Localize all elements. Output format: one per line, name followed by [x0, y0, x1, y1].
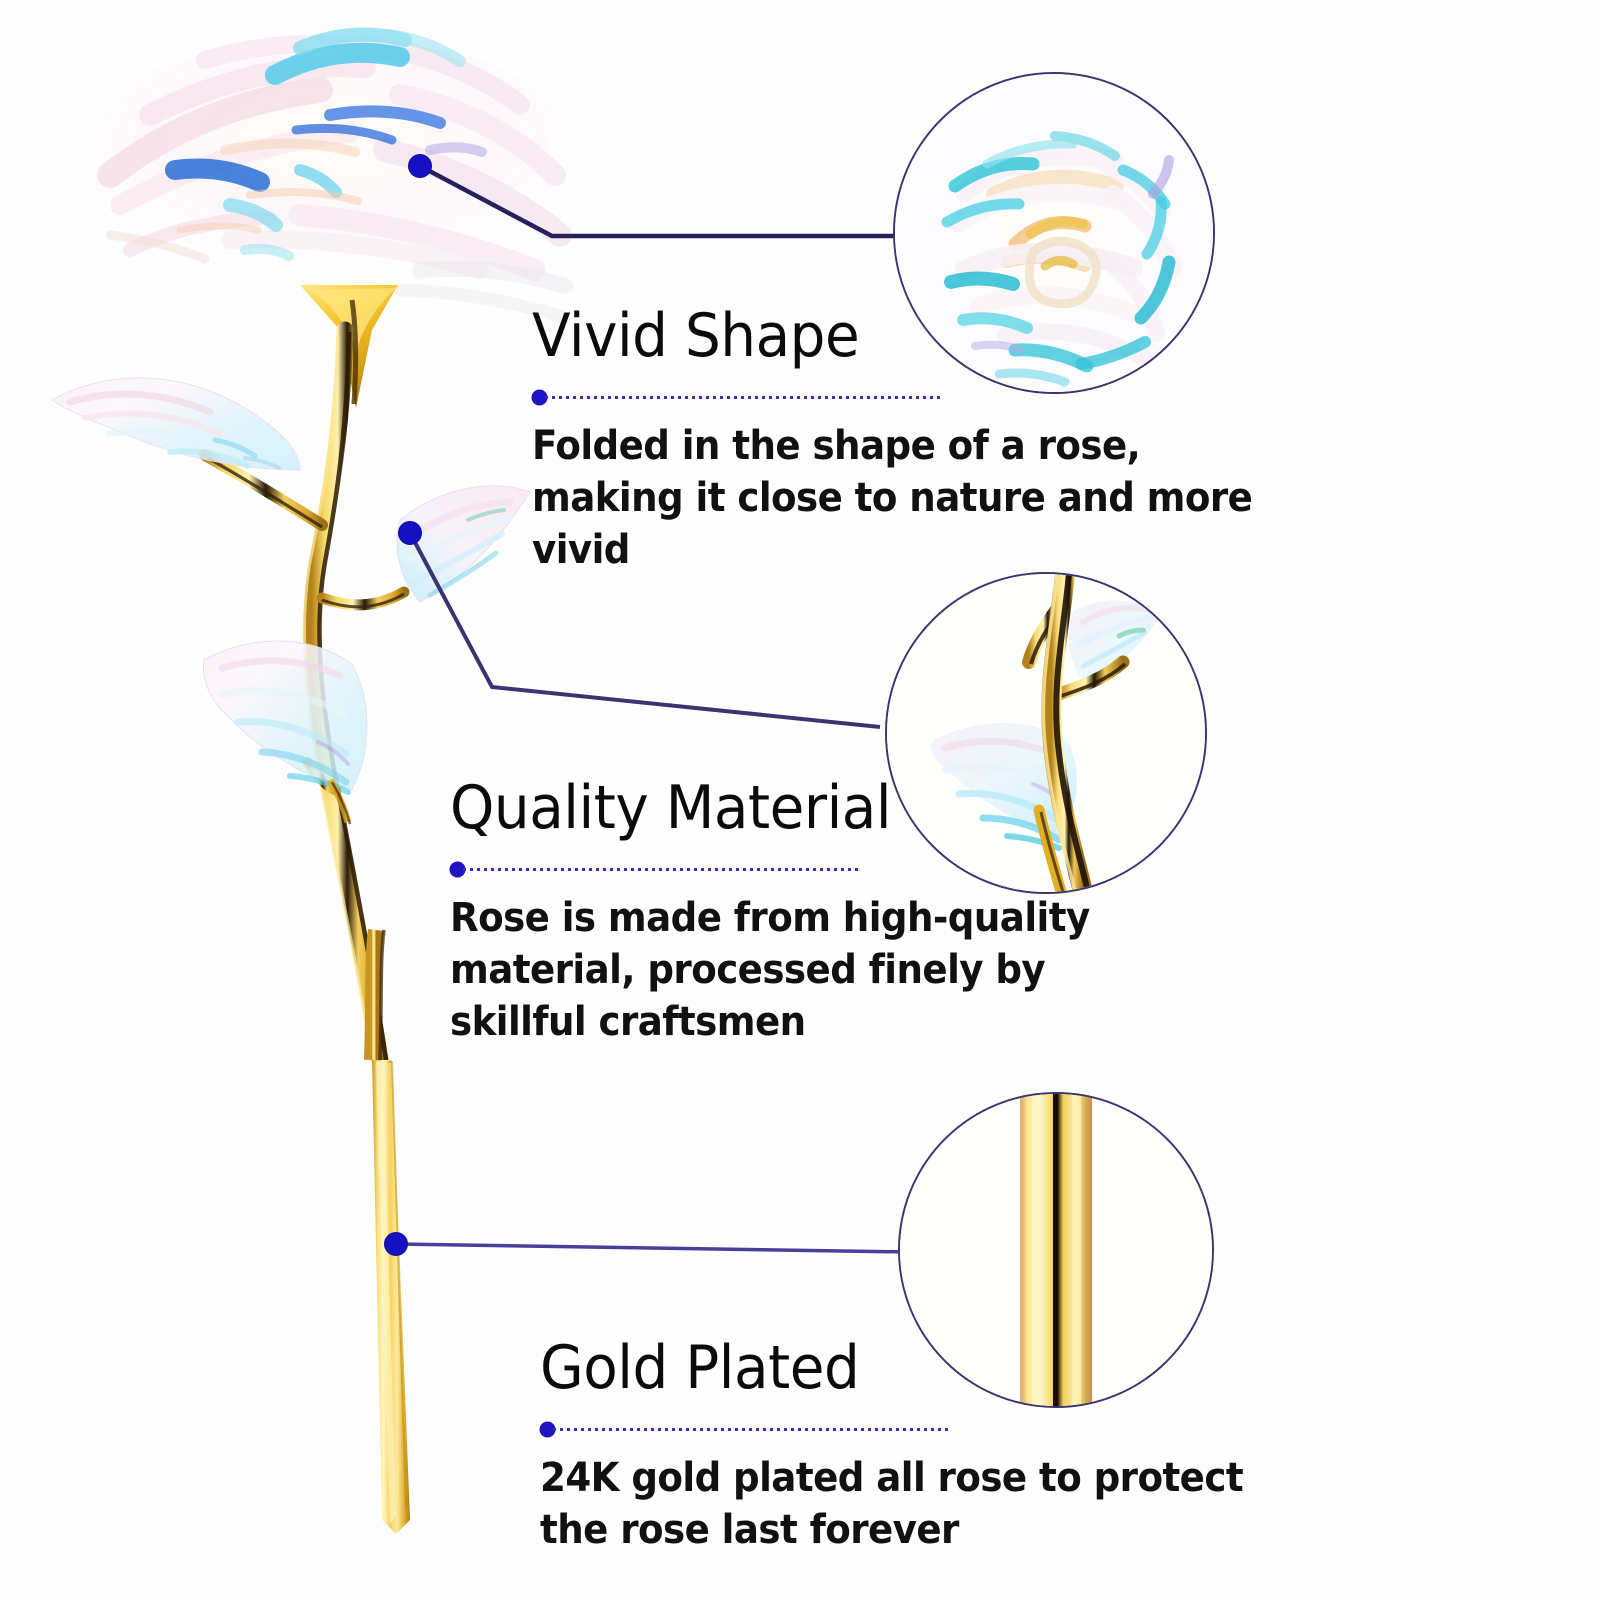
feature-heading-vivid-shape: Vivid Shape: [532, 306, 1275, 366]
infographic-canvas: Vivid Shape Folded in the shape of a ros…: [0, 0, 1600, 1600]
divider-dashes: [545, 396, 940, 399]
feature-divider-vivid-shape: [532, 388, 1322, 406]
feature-heading-gold-plated: Gold Plated: [540, 1338, 1283, 1398]
stem-branch-right: [322, 592, 404, 607]
feature-body-gold-plated: 24K gold plated all rose to protect the …: [540, 1452, 1275, 1556]
feature-heading-quality-material: Quality Material: [450, 778, 1193, 838]
feature-divider-quality-material: [450, 860, 1240, 878]
feature-body-vivid-shape: Folded in the shape of a rose, making it…: [532, 420, 1267, 576]
feature-block-quality-material: Quality Material Rose is made from high-…: [450, 778, 1240, 1048]
feature-block-vivid-shape: Vivid Shape Folded in the shape of a ros…: [532, 306, 1322, 576]
feature-body-quality-material: Rose is made from high-quality material,…: [450, 892, 1185, 1048]
leaf-right: [397, 486, 530, 602]
divider-dashes: [553, 1428, 948, 1431]
rose-bloom: [85, 35, 575, 316]
divider-dashes: [463, 868, 858, 871]
gold-stem-rod: [372, 930, 410, 1534]
feature-divider-gold-plated: [540, 1420, 1330, 1438]
leaf-upper-left: [52, 378, 300, 470]
leaf-lower-left: [204, 641, 367, 824]
feature-block-gold-plated: Gold Plated 24K gold plated all rose to …: [540, 1338, 1330, 1556]
